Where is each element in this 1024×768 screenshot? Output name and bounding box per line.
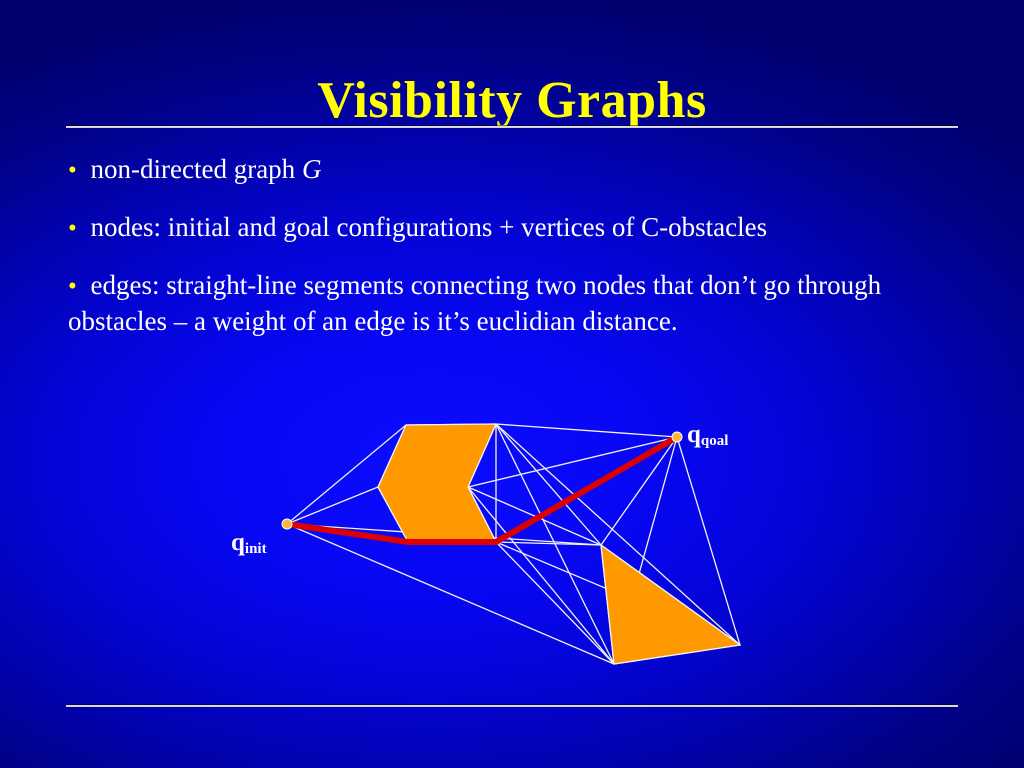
graph-edge [468, 487, 601, 545]
page-title: Visibility Graphs [0, 71, 1024, 131]
c-obstacle-layer [378, 424, 740, 664]
bullet-list: • non-directed graph G • nodes: initial … [68, 152, 958, 361]
graph-edge [406, 424, 496, 425]
graph-edge [287, 524, 601, 545]
shortest-path-layer [287, 437, 677, 542]
goal-subscript: qoal [701, 433, 729, 449]
init-symbol: q [231, 529, 245, 556]
bullet-text: nodes: initial and goal configurations +… [84, 212, 767, 242]
list-item: • edges: straight-line segments connecti… [68, 268, 958, 339]
graph-edge [287, 487, 378, 524]
graph-edge [468, 487, 496, 542]
graph-edge [496, 424, 677, 437]
bullet-marker-icon: • [68, 157, 84, 184]
graph-edge [496, 424, 601, 545]
graph-edge [601, 437, 677, 545]
init-subscript: init [245, 541, 267, 557]
graph-edge [468, 487, 614, 664]
c-obstacle-triangle [601, 545, 740, 664]
bullet-text: non-directed graph [84, 154, 302, 184]
graph-edge [614, 645, 740, 664]
list-item: • nodes: initial and goal configurations… [68, 210, 958, 246]
list-item: • non-directed graph G [68, 152, 958, 188]
goal-symbol: q [687, 421, 701, 448]
graph-edge-layer [287, 424, 740, 664]
graph-edge [287, 425, 406, 524]
graph-edge [614, 437, 677, 664]
graph-edge [378, 487, 408, 542]
graph-edge [287, 524, 408, 542]
graph-edge [601, 545, 740, 645]
node-q-init [282, 519, 292, 529]
graph-edge [468, 487, 496, 542]
bullet-text: edges: straight-line segments connecting… [68, 270, 881, 336]
graph-edge [468, 437, 677, 487]
bullet-emphasis: G [302, 154, 322, 184]
graph-edge [468, 424, 496, 487]
graph-edge [496, 424, 614, 664]
shortest-path-polyline [287, 437, 677, 542]
graph-edge [496, 542, 740, 645]
title-divider-top [66, 125, 958, 128]
bullet-marker-icon: • [68, 273, 84, 300]
graph-edge [378, 425, 406, 487]
footer-divider-bottom [66, 704, 958, 707]
c-obstacle-hexagon [378, 424, 496, 542]
graph-edge [496, 542, 601, 545]
bullet-marker-icon: • [68, 215, 84, 242]
node-q-goal [672, 432, 682, 442]
graph-edge [677, 437, 740, 645]
graph-edge [496, 424, 740, 645]
graph-node-layer [282, 432, 682, 529]
slide-canvas: Visibility Graphs • non-directed graph G… [0, 0, 1024, 768]
node-label-init: qinit [231, 531, 267, 558]
node-label-goal: qqoal [687, 423, 728, 450]
graph-edge [496, 437, 677, 542]
graph-edge [287, 524, 614, 664]
graph-edge [496, 542, 614, 664]
graph-edge [601, 545, 614, 664]
